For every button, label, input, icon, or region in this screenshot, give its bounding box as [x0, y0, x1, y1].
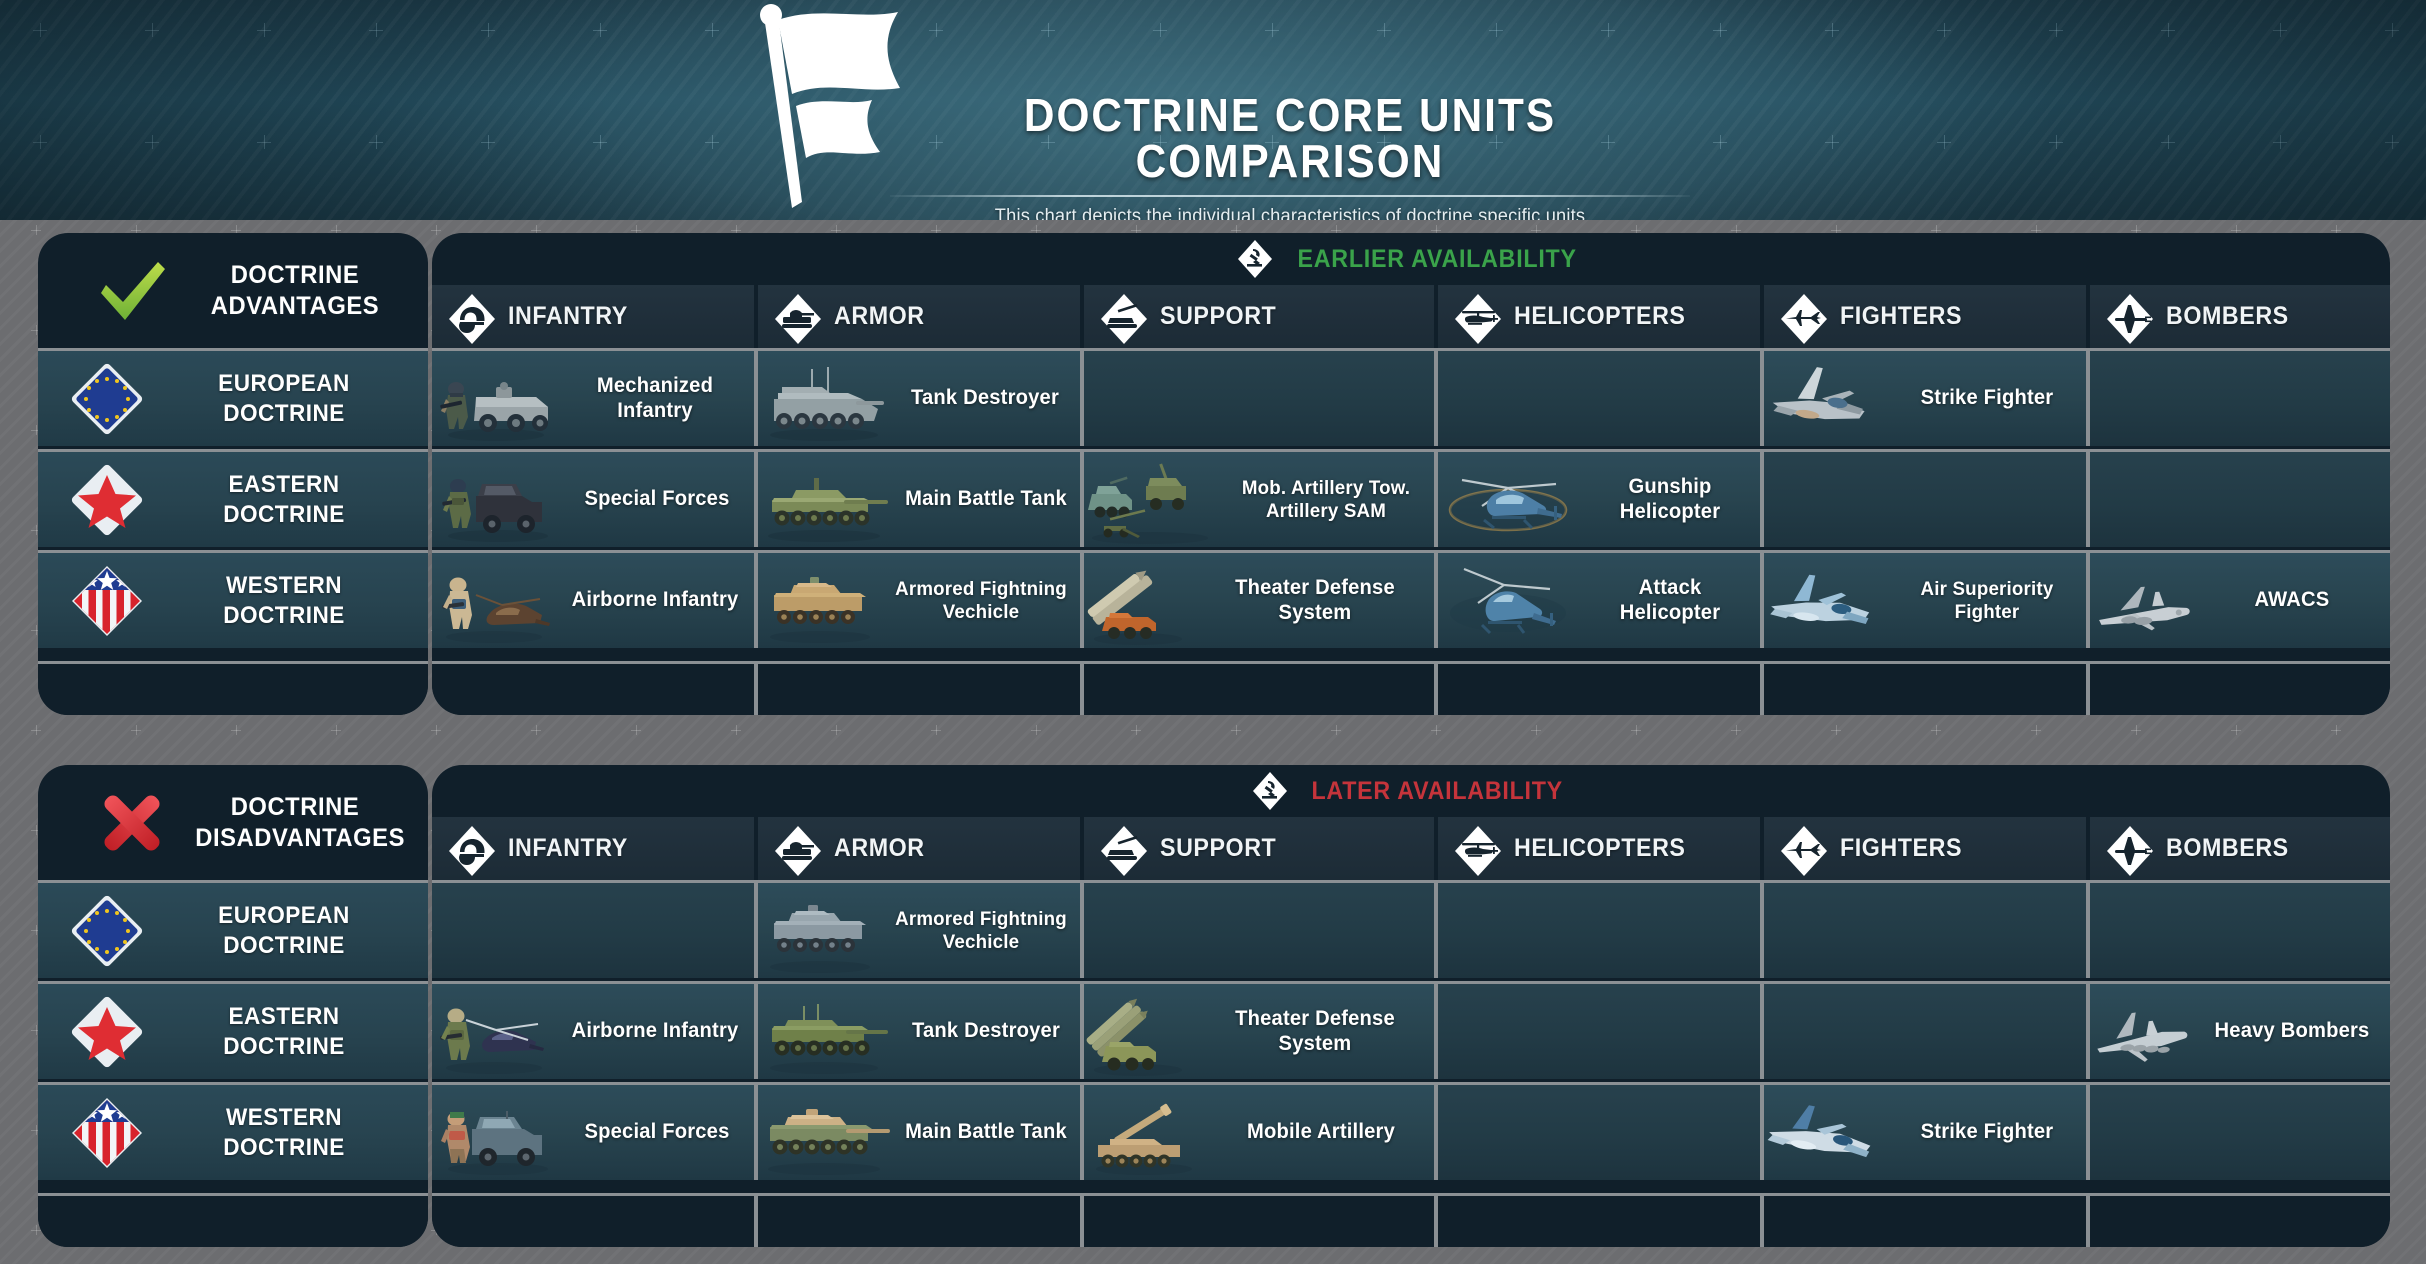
column-header-support-label: SUPPORT — [1160, 302, 1276, 331]
western-stars-stripes-flag-diamond-icon — [68, 1094, 146, 1172]
cell-label: AWACS — [2198, 588, 2386, 612]
tank-diamond-icon — [772, 823, 824, 879]
helicopter-diamond-icon — [1452, 823, 1504, 879]
tank-destroyer-grey-art — [758, 353, 890, 445]
cell-label: Heavy Bombers — [2198, 1019, 2386, 1043]
eu-flag-diamond-icon — [68, 892, 146, 970]
doctrine-label-western: WESTERN DOCTRINE — [177, 571, 391, 630]
cell-label: Attack Helicopter — [1584, 576, 1757, 625]
afv-tan-art — [758, 555, 882, 647]
theater-defense-launcher-art — [1084, 555, 1196, 647]
cell-label: Theater Defense System — [1201, 576, 1429, 625]
advantages-left-panel: DOCTRINE ADVANTAGES — [38, 233, 428, 715]
cell-advantages-western-armor[interactable]: Armored Fightning Vechicle — [758, 553, 1084, 648]
cell-label: Mob. Artillery Tow. Artillery SAM — [1222, 477, 1429, 522]
advantages-title: DOCTRINE ADVANTAGES — [38, 233, 428, 348]
cell-advantages-european-support[interactable] — [1084, 351, 1438, 446]
theater-defense-green-art — [1084, 986, 1196, 1078]
earlier-availability-banner: EARLIER AVAILABILITY — [432, 233, 2390, 285]
column-header-support: SUPPORT — [1084, 285, 1438, 348]
cell-disadvantages-european-fighters[interactable] — [1764, 883, 2090, 978]
column-header-infantry-label: INFANTRY — [508, 834, 628, 863]
western-stars-stripes-flag-diamond-icon — [68, 562, 146, 640]
cell-label: Armored Fightning Vechicle — [886, 578, 1076, 623]
column-header-bombers-label: BOMBERS — [2166, 302, 2289, 331]
strike-fighter-grey-art — [1764, 353, 1888, 445]
advantages-title-text: DOCTRINE ADVANTAGES — [195, 260, 395, 321]
cell-advantages-western-bombers[interactable]: AWACS — [2090, 553, 2390, 648]
cell-disadvantages-european-armor[interactable]: Armored Fightning Vechicle — [758, 883, 1084, 978]
disadvantages-title: DOCTRINE DISADVANTAGES — [38, 765, 428, 880]
doctrine-label-eastern: EASTERN DOCTRINE — [177, 470, 391, 529]
advantages-left-footer — [38, 661, 428, 715]
research-microscope-diamond-icon — [1250, 769, 1290, 813]
disadvantages-column-headers: INFANTRY ARMOR — [432, 817, 2390, 880]
cell-advantages-european-bombers[interactable] — [2090, 351, 2390, 446]
column-header-infantry-label: INFANTRY — [508, 302, 628, 331]
doctrine-row-european-disadvantages: EUROPEAN DOCTRINE — [38, 880, 428, 978]
column-header-fighters: FIGHTERS — [1764, 817, 2090, 880]
artillery-diamond-icon — [1098, 823, 1150, 879]
gunship-helicopter-art — [1438, 454, 1580, 546]
cell-disadvantages-western-helicopters[interactable] — [1438, 1085, 1764, 1180]
column-header-bombers: BOMBERS — [2090, 285, 2390, 348]
eastern-star-flag-diamond-icon — [68, 461, 146, 539]
cell-disadvantages-european-infantry[interactable] — [432, 883, 758, 978]
cell-disadvantages-eastern-armor[interactable]: Tank Destroyer — [758, 984, 1084, 1079]
cell-label: Main Battle Tank — [896, 1120, 1076, 1144]
cell-advantages-western-infantry[interactable]: Airborne Infantry — [432, 553, 758, 648]
tank-diamond-icon — [772, 291, 824, 347]
red-cross-icon — [96, 789, 168, 857]
doctrine-row-western-disadvantages: WESTERN DOCTRINE — [38, 1082, 428, 1180]
doctrine-label-eastern: EASTERN DOCTRINE — [177, 1002, 391, 1061]
cell-advantages-western-support[interactable]: Theater Defense System — [1084, 553, 1438, 648]
afv-grey-art — [758, 885, 882, 977]
advantages-right-panel: EARLIER AVAILABILITY INFANTRY — [432, 233, 2390, 715]
column-header-armor-label: ARMOR — [834, 302, 925, 331]
special-forces-humvee-art — [432, 1087, 560, 1179]
cell-advantages-western-fighters[interactable]: Air Superiority Fighter — [1764, 553, 2090, 648]
cell-disadvantages-european-support[interactable] — [1084, 883, 1438, 978]
section-advantages: DOCTRINE ADVANTAGES — [0, 233, 2426, 728]
cell-label: Strike Fighter — [1892, 1120, 2082, 1144]
table-row: Special Forces — [432, 449, 2390, 547]
disadvantages-left-footer — [38, 1193, 428, 1247]
table-row: Mechanized Infantry — [432, 348, 2390, 446]
cell-disadvantages-eastern-fighters[interactable] — [1764, 984, 2090, 1079]
column-header-fighters-label: FIGHTERS — [1840, 834, 1962, 863]
cell-advantages-eastern-armor[interactable]: Main Battle Tank — [758, 452, 1084, 547]
bomber-plane-diamond-icon — [2104, 823, 2156, 879]
mbt-tan-art — [758, 1087, 892, 1179]
cell-label: Special Forces — [564, 1120, 750, 1144]
cell-label: Airborne Infantry — [560, 1019, 750, 1043]
doctrine-label-european: EUROPEAN DOCTRINE — [177, 369, 391, 428]
doctrine-label-western: WESTERN DOCTRINE — [177, 1103, 391, 1162]
cell-advantages-western-helicopters[interactable]: Attack Helicopter — [1438, 553, 1764, 648]
advantages-right-footer — [432, 661, 2390, 715]
column-header-helicopters-label: HELICOPTERS — [1514, 834, 1685, 863]
cell-disadvantages-eastern-support[interactable]: Theater Defense System — [1084, 984, 1438, 1079]
airborne-infantry-helo-art — [432, 986, 556, 1078]
column-header-support: SUPPORT — [1084, 817, 1438, 880]
mbt-green-art — [758, 454, 892, 546]
bomber-plane-diamond-icon — [2104, 291, 2156, 347]
later-availability-banner: LATER AVAILABILITY — [432, 765, 2390, 817]
cell-disadvantages-european-bombers[interactable] — [2090, 883, 2390, 978]
cell-label: Airborne Infantry — [560, 588, 750, 612]
disadvantages-title-text: DOCTRINE DISADVANTAGES — [195, 792, 395, 853]
fighter-jet-diamond-icon — [1778, 823, 1830, 879]
helmet-diamond-icon — [446, 823, 498, 879]
cell-label: Tank Destroyer — [894, 386, 1076, 410]
cell-disadvantages-european-helicopters[interactable] — [1438, 883, 1764, 978]
cell-label: Special Forces — [564, 487, 750, 511]
cell-label: Strike Fighter — [1892, 386, 2082, 410]
cell-advantages-eastern-bombers[interactable] — [2090, 452, 2390, 547]
column-header-infantry: INFANTRY — [432, 817, 758, 880]
column-header-armor: ARMOR — [758, 817, 1084, 880]
cell-advantages-european-fighters[interactable]: Strike Fighter — [1764, 351, 2090, 446]
infantry-apc-art — [432, 353, 556, 445]
table-row: Special Forces — [432, 1082, 2390, 1180]
table-row: Armored Fightning Vechicle — [432, 880, 2390, 978]
cell-label: Mechanized Infantry — [560, 374, 750, 423]
cell-disadvantages-eastern-infantry[interactable]: Airborne Infantry — [432, 984, 758, 1079]
cell-advantages-european-infantry[interactable]: Mechanized Infantry — [432, 351, 758, 446]
cell-label: Mobile Artillery — [1213, 1120, 1430, 1144]
later-availability-label: LATER AVAILABILITY — [1311, 777, 1562, 806]
cell-advantages-eastern-fighters[interactable] — [1764, 452, 2090, 547]
doctrine-row-eastern-disadvantages: EASTERN DOCTRINE — [38, 981, 428, 1079]
mobile-artillery-tan-art — [1084, 1087, 1208, 1179]
column-header-infantry: INFANTRY — [432, 285, 758, 348]
cell-label: Main Battle Tank — [896, 487, 1076, 511]
column-header-helicopters: HELICOPTERS — [1438, 285, 1764, 348]
cell-disadvantages-western-bombers[interactable] — [2090, 1085, 2390, 1180]
cell-disadvantages-western-fighters[interactable]: Strike Fighter — [1764, 1085, 2090, 1180]
cell-label: Air Superiority Fighter — [1892, 578, 2082, 623]
fighter-jet-diamond-icon — [1778, 291, 1830, 347]
column-header-helicopters-label: HELICOPTERS — [1514, 302, 1685, 331]
helicopter-diamond-icon — [1452, 291, 1504, 347]
cell-label: Theater Defense System — [1201, 1007, 1429, 1056]
column-header-armor: ARMOR — [758, 285, 1084, 348]
cell-disadvantages-western-armor[interactable]: Main Battle Tank — [758, 1085, 1084, 1180]
strike-fighter-blue-art — [1764, 1087, 1888, 1179]
disadvantages-right-footer — [432, 1193, 2390, 1247]
doctrine-row-european-advantages: EUROPEAN DOCTRINE — [38, 348, 428, 446]
page-header: DOCTRINE CORE UNITS COMPARISON This char… — [0, 0, 2426, 220]
cell-label: Gunship Helicopter — [1584, 475, 1757, 524]
research-microscope-diamond-icon — [1235, 237, 1275, 281]
special-forces-jeep-art — [432, 454, 560, 546]
eu-flag-diamond-icon — [68, 360, 146, 438]
awacs-plane-art — [2090, 555, 2194, 647]
cell-disadvantages-western-support[interactable]: Mobile Artillery — [1084, 1085, 1438, 1180]
attack-helicopter-art — [1438, 555, 1580, 647]
cell-disadvantages-western-infantry[interactable]: Special Forces — [432, 1085, 758, 1180]
airborne-infantry-art — [432, 555, 556, 647]
doctrine-row-western-advantages: WESTERN DOCTRINE — [38, 550, 428, 648]
earlier-availability-label: EARLIER AVAILABILITY — [1297, 245, 1576, 274]
column-header-helicopters: HELICOPTERS — [1438, 817, 1764, 880]
column-header-armor-label: ARMOR — [834, 834, 925, 863]
column-header-support-label: SUPPORT — [1160, 834, 1276, 863]
disadvantages-left-panel: DOCTRINE DISADVANTAGES — [38, 765, 428, 1247]
column-header-fighters: FIGHTERS — [1764, 285, 2090, 348]
column-header-bombers-label: BOMBERS — [2166, 834, 2289, 863]
cell-advantages-eastern-infantry[interactable]: Special Forces — [432, 452, 758, 547]
table-row: Airborne Infantry — [432, 550, 2390, 648]
disadvantages-right-panel: LATER AVAILABILITY INFANTRY — [432, 765, 2390, 1247]
title-divider — [890, 195, 1690, 197]
air-superiority-fighter-art — [1764, 555, 1888, 647]
cell-advantages-european-helicopters[interactable] — [1438, 351, 1764, 446]
doctrine-label-european: EUROPEAN DOCTRINE — [177, 901, 391, 960]
doctrine-row-eastern-advantages: EASTERN DOCTRINE — [38, 449, 428, 547]
table-row: Airborne Infantry — [432, 981, 2390, 1079]
heavy-bomber-art — [2090, 986, 2194, 1078]
advantages-column-headers: INFANTRY ARMOR — [432, 285, 2390, 348]
cell-disadvantages-eastern-bombers[interactable]: Heavy Bombers — [2090, 984, 2390, 1079]
green-check-icon — [96, 257, 168, 325]
page-title: DOCTRINE CORE UNITS COMPARISON — [913, 92, 1667, 184]
page-subtitle: This chart depicts the individual charac… — [896, 206, 1683, 220]
cell-advantages-european-armor[interactable]: Tank Destroyer — [758, 351, 1084, 446]
artillery-diamond-icon — [1098, 291, 1150, 347]
column-header-fighters-label: FIGHTERS — [1840, 302, 1962, 331]
cell-disadvantages-eastern-helicopters[interactable] — [1438, 984, 1764, 1079]
tank-destroyer-green-art — [758, 986, 892, 1078]
helmet-diamond-icon — [446, 291, 498, 347]
cell-advantages-eastern-helicopters[interactable]: Gunship Helicopter — [1438, 452, 1764, 547]
cell-label: Tank Destroyer — [896, 1019, 1076, 1043]
column-header-bombers: BOMBERS — [2090, 817, 2390, 880]
cell-label: Armored Fightning Vechicle — [886, 908, 1076, 953]
eastern-star-flag-diamond-icon — [68, 993, 146, 1071]
cell-advantages-eastern-support[interactable]: Mob. Artillery Tow. Artillery SAM — [1084, 452, 1438, 547]
artillery-sam-group-art — [1084, 454, 1218, 546]
section-disadvantages: DOCTRINE DISADVANTAGES — [0, 765, 2426, 1260]
